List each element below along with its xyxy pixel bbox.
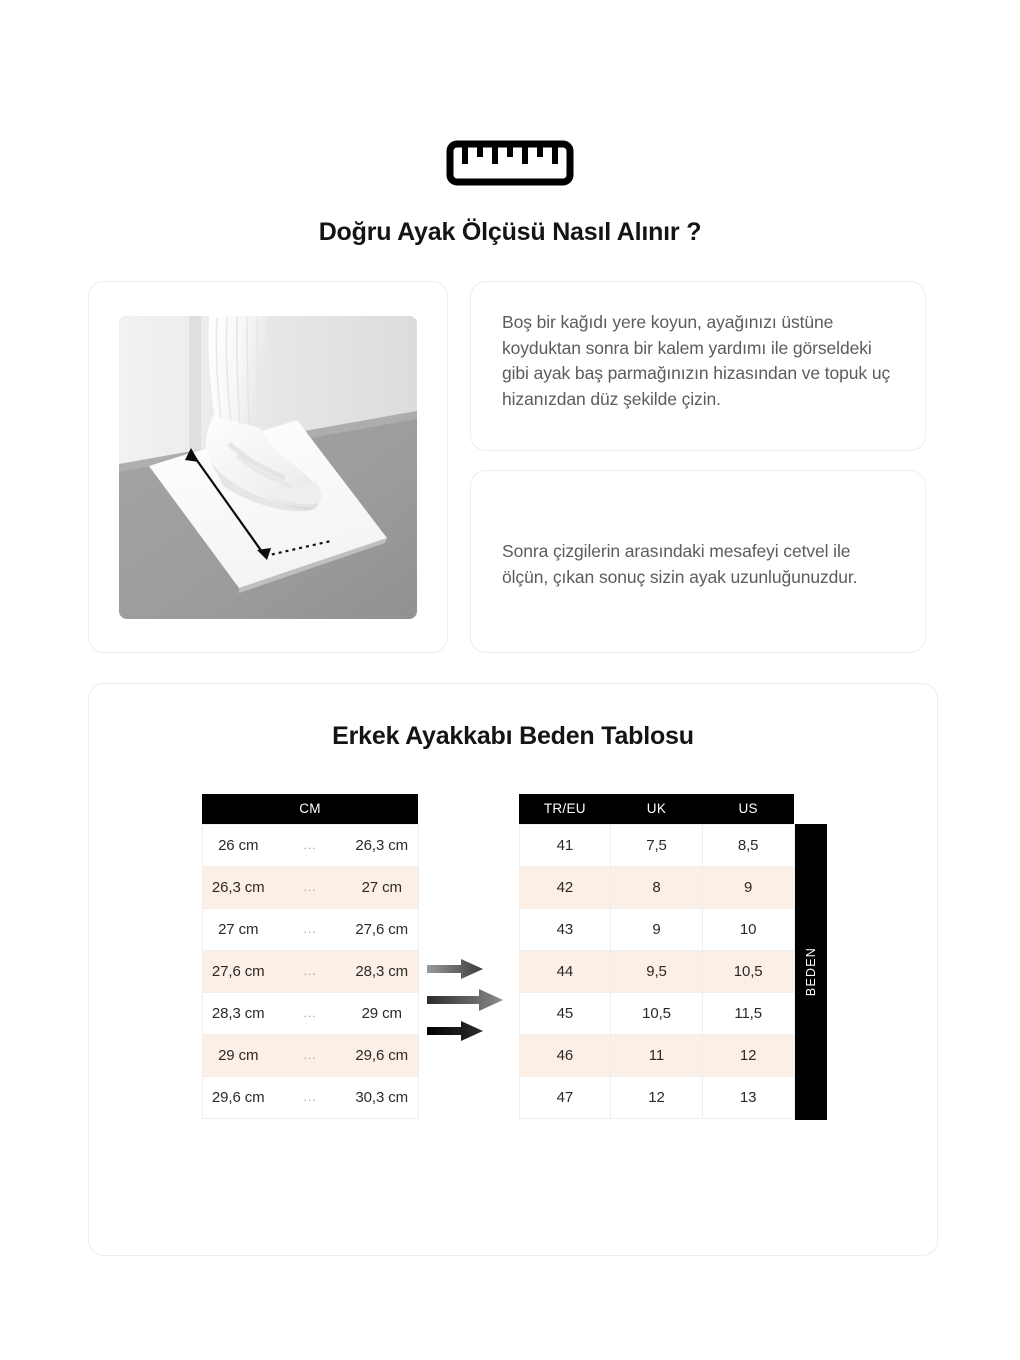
- cm-to: 26,3 cm: [346, 824, 418, 866]
- beden-label: BEDEN: [804, 947, 818, 996]
- ruler-icon: [446, 140, 574, 186]
- arrow-right-icon-2: [427, 989, 503, 1011]
- cm-table: CM 26 cm ... 26,3 cm 26,3 cm ... 27 cm 2…: [202, 794, 419, 1119]
- cm-separator: ...: [274, 950, 346, 992]
- photo-card: [88, 281, 448, 653]
- size-us: 10,5: [702, 950, 794, 992]
- cm-from: 26,3 cm: [202, 866, 274, 908]
- cm-from: 26 cm: [202, 824, 274, 866]
- page-title: Doğru Ayak Ölçüsü Nasıl Alınır ?: [0, 218, 1020, 247]
- table-row[interactable]: 26 cm ... 26,3 cm: [202, 824, 418, 866]
- cm-separator: ...: [274, 908, 346, 950]
- foot-measurement-photo: [119, 316, 417, 619]
- table-row[interactable]: 47 12 13: [519, 1076, 794, 1118]
- cm-to: 29 cm: [346, 992, 418, 1034]
- table-row[interactable]: 42 8 9: [519, 866, 794, 908]
- size-treu: 41: [519, 824, 611, 866]
- cm-table-header: CM: [202, 794, 418, 824]
- size-us: 13: [702, 1076, 794, 1118]
- table-row[interactable]: 29 cm ... 29,6 cm: [202, 1034, 418, 1076]
- cm-from: 27 cm: [202, 908, 274, 950]
- size-table-header-row: TR/EU UK US: [519, 794, 794, 824]
- cm-separator: ...: [274, 866, 346, 908]
- size-uk: 7,5: [611, 824, 703, 866]
- cm-to: 30,3 cm: [346, 1076, 418, 1118]
- table-row[interactable]: 41 7,5 8,5: [519, 824, 794, 866]
- size-chart-card: Erkek Ayakkabı Beden Tablosu CM 26 cm ..…: [88, 683, 938, 1256]
- cm-from: 28,3 cm: [202, 992, 274, 1034]
- cm-to: 29,6 cm: [346, 1034, 418, 1076]
- table-row[interactable]: 29,6 cm ... 30,3 cm: [202, 1076, 418, 1118]
- instructions-section: Boş bir kağıdı yere koyun, ayağınızı üst…: [88, 281, 938, 653]
- table-row[interactable]: 28,3 cm ... 29 cm: [202, 992, 418, 1034]
- table-row[interactable]: 45 10,5 11,5: [519, 992, 794, 1034]
- instruction-text-1: Boş bir kağıdı yere koyun, ayağınızı üst…: [502, 310, 891, 413]
- size-chart-title: Erkek Ayakkabı Beden Tablosu: [89, 722, 937, 751]
- cm-from: 29,6 cm: [202, 1076, 274, 1118]
- size-us: 8,5: [702, 824, 794, 866]
- instruction-card-1: Boş bir kağıdı yere koyun, ayağınızı üst…: [470, 281, 926, 451]
- size-us: 11,5: [702, 992, 794, 1034]
- table-row[interactable]: 43 9 10: [519, 908, 794, 950]
- size-uk: 9,5: [611, 950, 703, 992]
- size-uk: 11: [611, 1034, 703, 1076]
- ruler-icon-container: [0, 140, 1020, 186]
- foot-photo-illustration: [119, 316, 417, 619]
- cm-table-header-row: CM: [202, 794, 418, 824]
- size-table-header-uk: UK: [611, 794, 703, 824]
- size-uk: 12: [611, 1076, 703, 1118]
- instruction-card-2: Sonra çizgilerin arasındaki mesafeyi cet…: [470, 470, 926, 653]
- size-treu: 43: [519, 908, 611, 950]
- arrow-right-icon-3: [427, 1021, 483, 1041]
- size-us: 9: [702, 866, 794, 908]
- cm-separator: ...: [274, 824, 346, 866]
- size-table-header-treu: TR/EU: [519, 794, 611, 824]
- cm-separator: ...: [274, 992, 346, 1034]
- cm-to: 27 cm: [346, 866, 418, 908]
- size-us: 12: [702, 1034, 794, 1076]
- cm-from: 29 cm: [202, 1034, 274, 1076]
- conversion-arrows: [419, 959, 519, 1041]
- size-tables-row: CM 26 cm ... 26,3 cm 26,3 cm ... 27 cm 2…: [89, 794, 939, 1120]
- table-row[interactable]: 27,6 cm ... 28,3 cm: [202, 950, 418, 992]
- cm-from: 27,6 cm: [202, 950, 274, 992]
- size-table-header-us: US: [702, 794, 794, 824]
- size-table: TR/EU UK US 41 7,5 8,5 42 8 9 43: [519, 794, 795, 1119]
- size-treu: 45: [519, 992, 611, 1034]
- size-uk: 10,5: [611, 992, 703, 1034]
- size-treu: 42: [519, 866, 611, 908]
- size-uk: 8: [611, 866, 703, 908]
- size-treu: 47: [519, 1076, 611, 1118]
- cm-separator: ...: [274, 1034, 346, 1076]
- instruction-text-2: Sonra çizgilerin arasındaki mesafeyi cet…: [502, 539, 891, 590]
- cm-separator: ...: [274, 1076, 346, 1118]
- size-us: 10: [702, 908, 794, 950]
- size-uk: 9: [611, 908, 703, 950]
- size-treu: 44: [519, 950, 611, 992]
- table-row[interactable]: 46 11 12: [519, 1034, 794, 1076]
- table-row[interactable]: 27 cm ... 27,6 cm: [202, 908, 418, 950]
- table-row[interactable]: 26,3 cm ... 27 cm: [202, 866, 418, 908]
- instruction-cards: Boş bir kağıdı yere koyun, ayağınızı üst…: [470, 281, 926, 653]
- beden-vertical-bar: BEDEN: [795, 824, 827, 1120]
- cm-to: 27,6 cm: [346, 908, 418, 950]
- table-row[interactable]: 44 9,5 10,5: [519, 950, 794, 992]
- cm-to: 28,3 cm: [346, 950, 418, 992]
- arrow-right-icon-1: [427, 959, 483, 979]
- size-treu: 46: [519, 1034, 611, 1076]
